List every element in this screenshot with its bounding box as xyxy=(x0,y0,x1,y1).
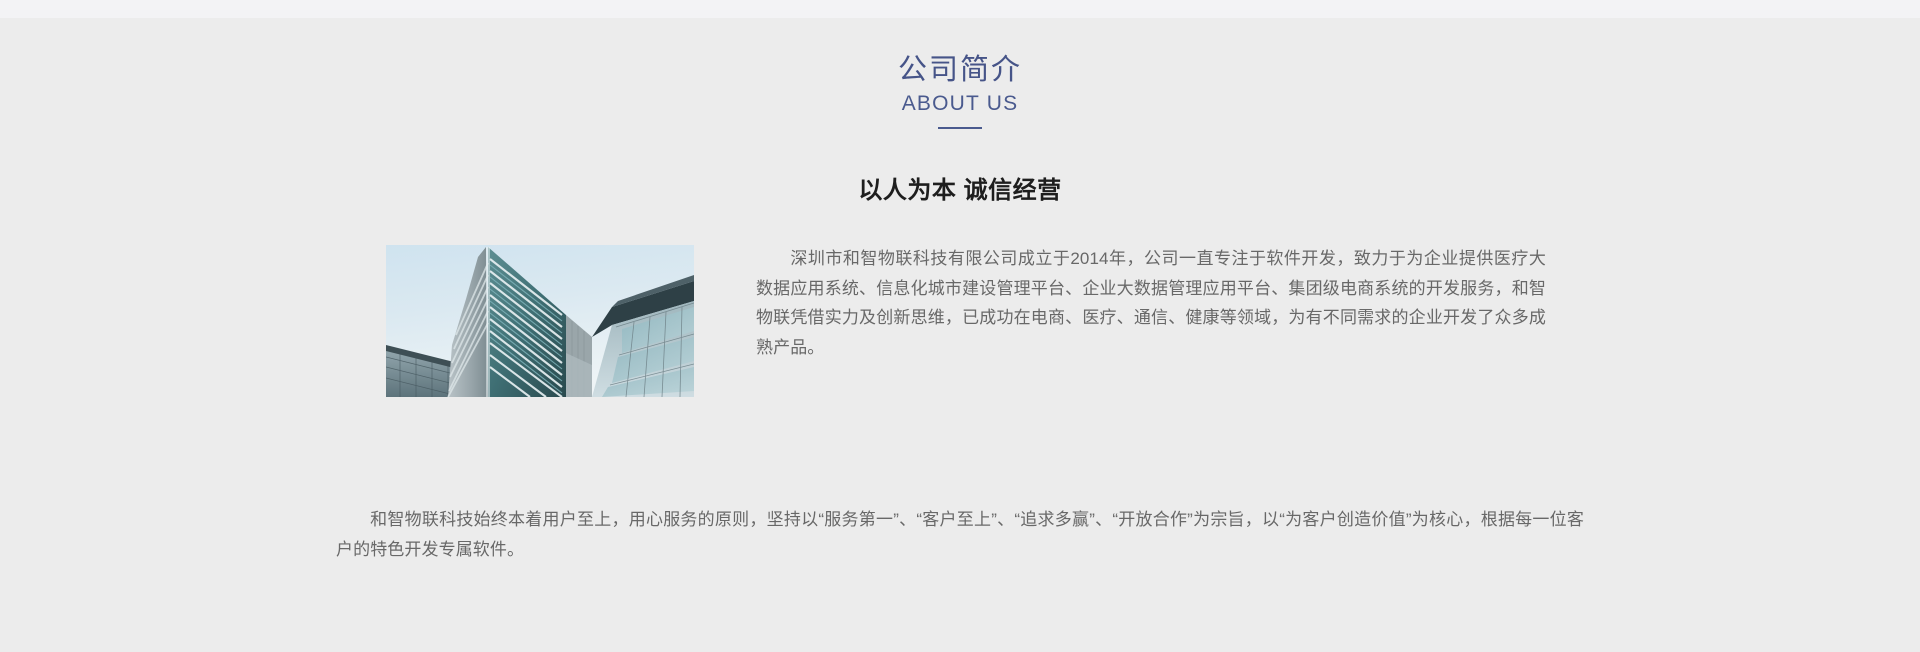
about-main-paragraph: 深圳市和智物联科技有限公司成立于2014年，公司一直专注于软件开发，致力于为企业… xyxy=(756,244,1546,362)
section-title-cn: 公司简介 xyxy=(0,52,1920,88)
about-section: 公司简介 ABOUT US 以人为本 诚信经营 xyxy=(0,18,1920,652)
about-bottom-paragraph: 和智物联科技始终本着用户至上，用心服务的原则，坚持以“服务第一”、“客户至上”、… xyxy=(336,505,1584,564)
building-photo-illustration xyxy=(386,245,694,397)
office-building-photo xyxy=(386,245,694,397)
heading-divider xyxy=(938,127,982,129)
section-subheading: 以人为本 诚信经营 xyxy=(0,173,1920,209)
top-strip xyxy=(0,0,1920,18)
about-us-page: 公司简介 ABOUT US 以人为本 诚信经营 xyxy=(0,0,1920,652)
section-heading-block: 公司简介 ABOUT US xyxy=(0,52,1920,129)
about-content-row: 深圳市和智物联科技有限公司成立于2014年，公司一直专注于软件开发，致力于为企业… xyxy=(386,244,1546,397)
section-title-en: ABOUT US xyxy=(0,90,1920,118)
about-main-paragraph-text: 深圳市和智物联科技有限公司成立于2014年，公司一直专注于软件开发，致力于为企业… xyxy=(756,249,1546,357)
about-bottom-paragraph-text: 和智物联科技始终本着用户至上，用心服务的原则，坚持以“服务第一”、“客户至上”、… xyxy=(336,510,1584,559)
